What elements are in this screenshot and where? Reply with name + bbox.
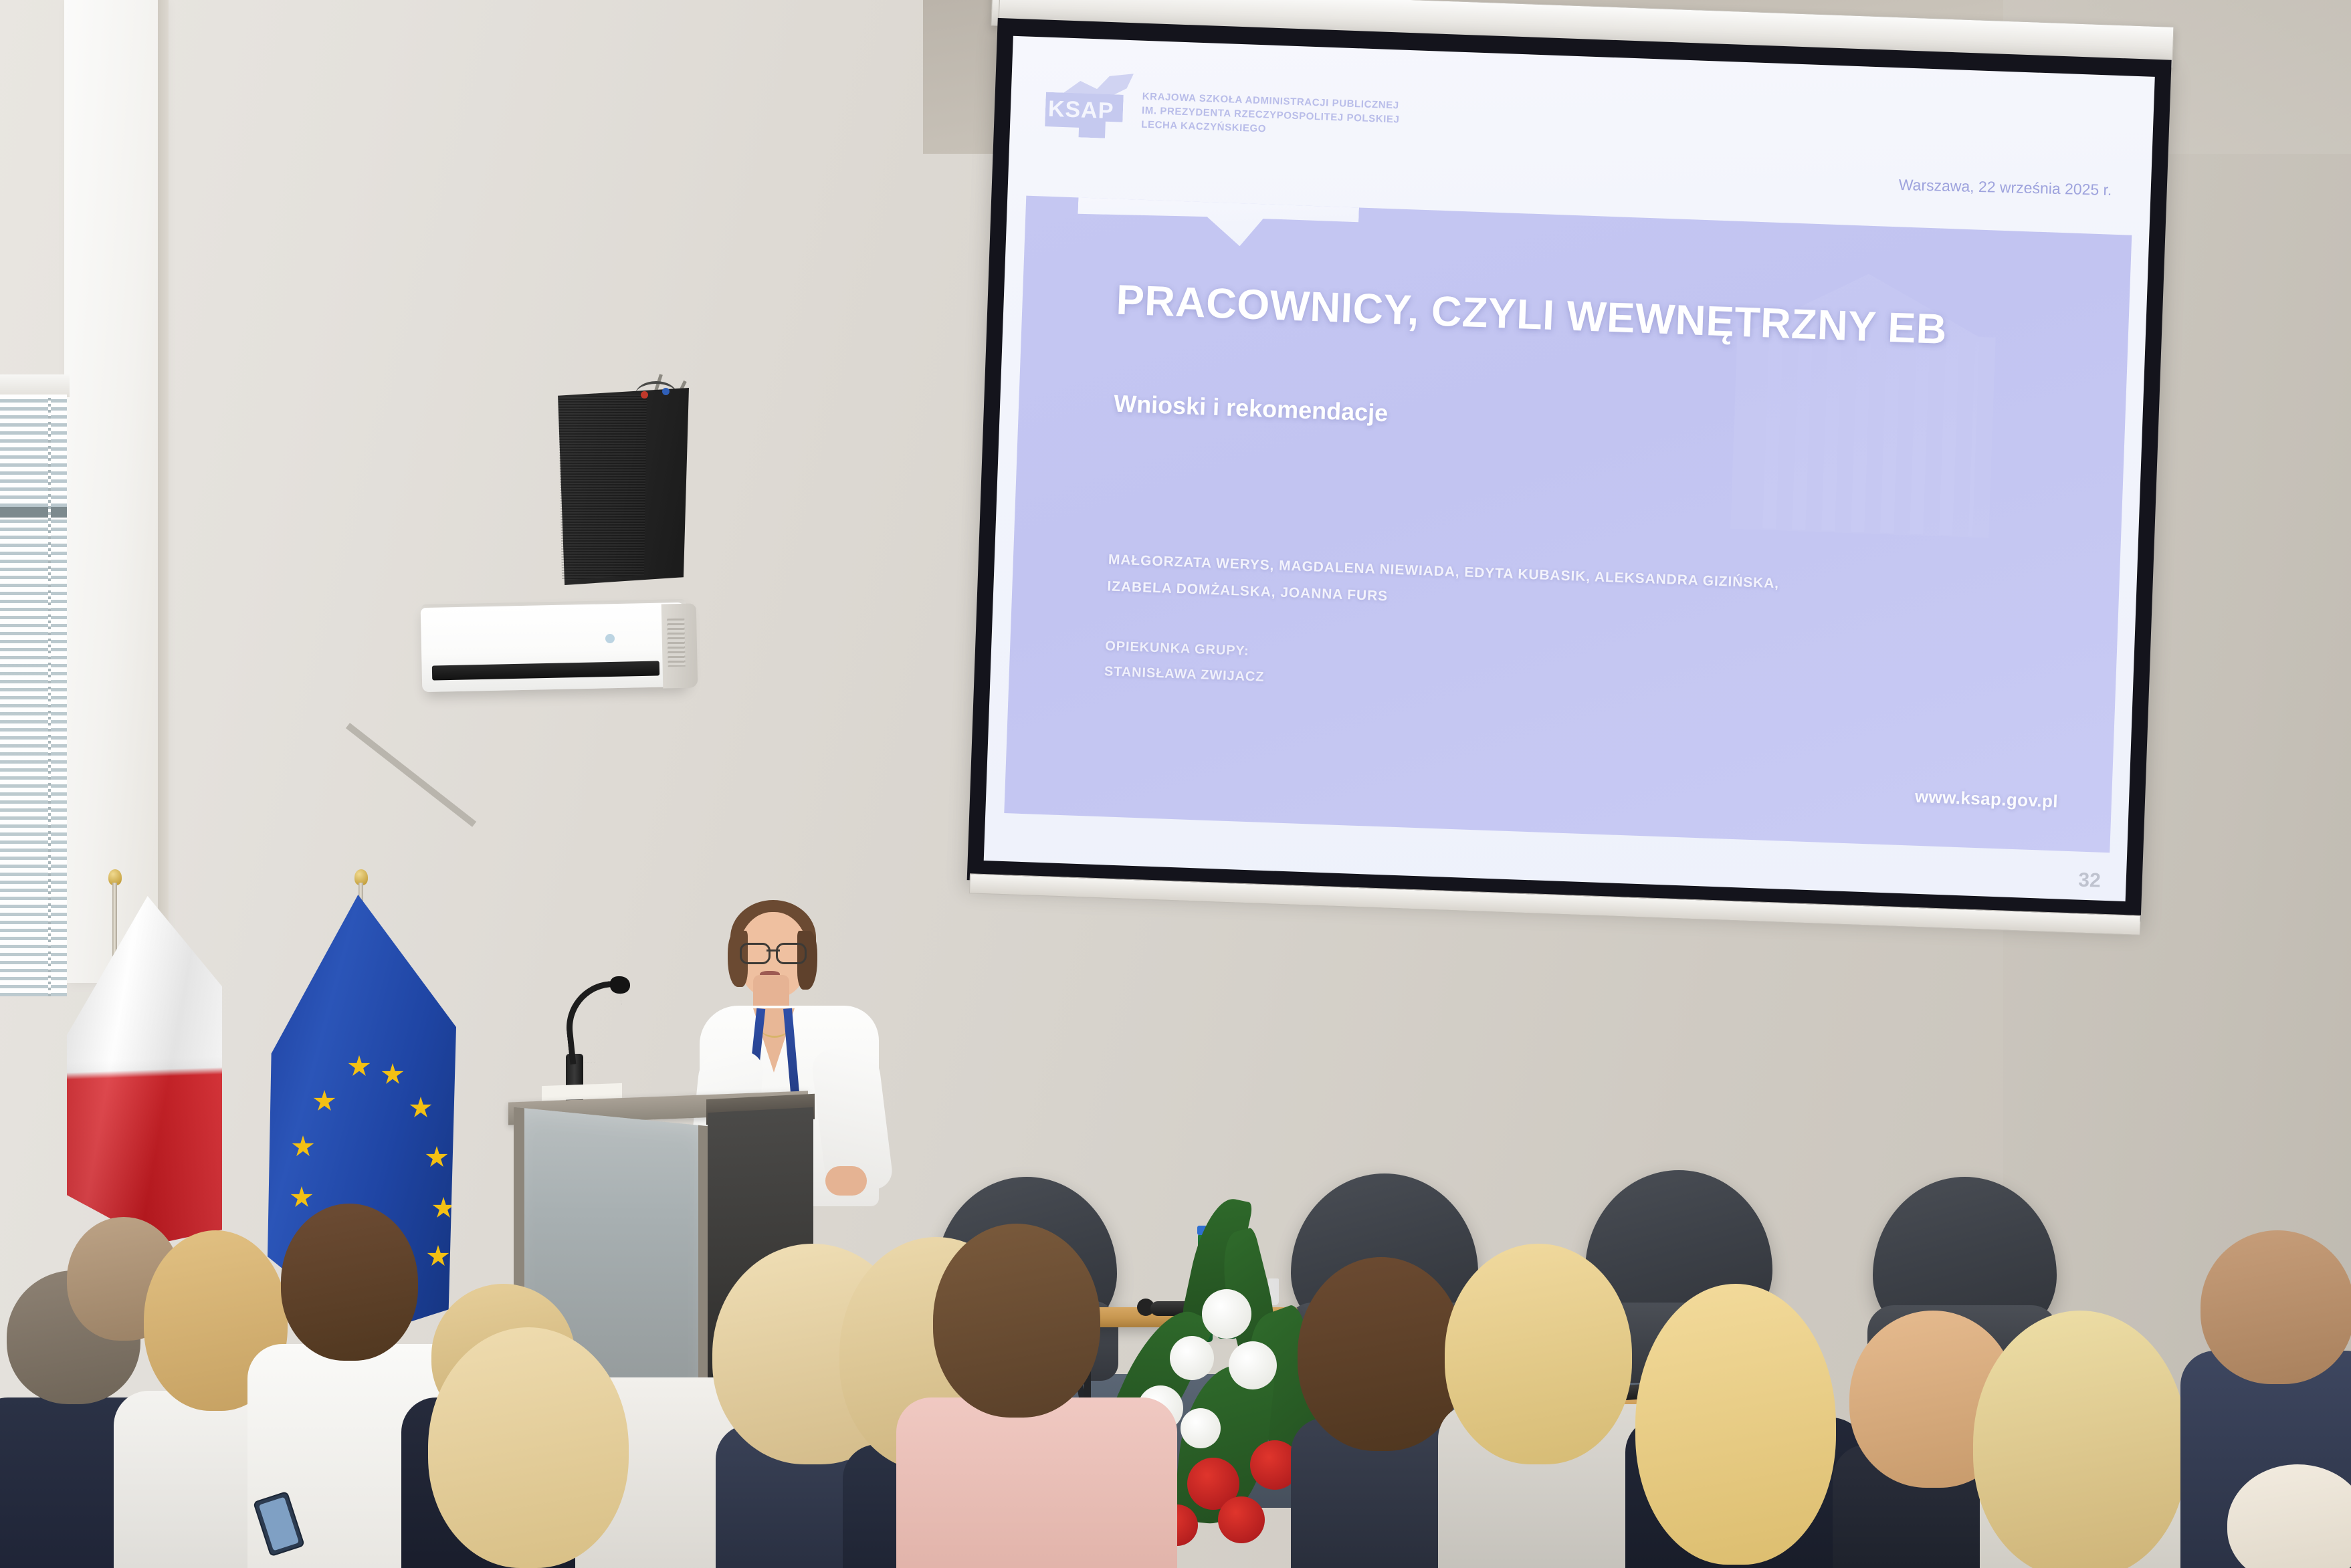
window: [0, 395, 67, 996]
audience-member-head: [1445, 1244, 1632, 1464]
audience-member-head: [1298, 1257, 1465, 1451]
speaker-grille: [556, 392, 647, 580]
eyeglasses-bridge: [766, 949, 780, 951]
audience-member-head: [2201, 1230, 2351, 1384]
red-carnation: [1218, 1496, 1265, 1543]
white-carnation: [1181, 1408, 1221, 1448]
window-frame: [0, 374, 70, 397]
slide-supervisor-name: STANISŁAWA ZWIJACZ: [1104, 659, 1265, 690]
ksap-logo: KSAP KRAJOWA SZKOŁA ADMINISTRACJI PUBLIC…: [1044, 70, 1401, 152]
wall-pillar: [64, 0, 162, 983]
screen-black-border: KSAP KRAJOWA SZKOŁA ADMINISTRACJI PUBLIC…: [967, 18, 2172, 922]
eu-star-icon: [290, 1186, 313, 1209]
eu-star-icon: [425, 1146, 448, 1169]
blind-cord[interactable]: [48, 395, 51, 996]
ksap-logo-mark-icon: KSAP: [1044, 70, 1132, 142]
presenter-hand-right: [825, 1166, 867, 1196]
blind-header-rail: [0, 507, 67, 518]
audience-member-head: [1973, 1311, 2187, 1568]
speaker-terminal-blue: [662, 388, 670, 395]
eyeglasses-icon: [738, 943, 808, 960]
projected-slide: KSAP KRAJOWA SZKOŁA ADMINISTRACJI PUBLIC…: [984, 36, 2155, 901]
microphone-capsule-icon: [610, 976, 630, 994]
slide-supervisor: OPIEKUNKA GRUPY: STANISŁAWA ZWIJACZ: [1104, 633, 1265, 690]
pillar-edge: [158, 0, 169, 983]
ksap-logo-lines: KRAJOWA SZKOŁA ADMINISTRACJI PUBLICZNEJ …: [1141, 85, 1401, 139]
slide-date: Warszawa, 22 września 2025 r.: [1899, 176, 2112, 199]
conference-photo-scene: KSAP KRAJOWA SZKOŁA ADMINISTRACJI PUBLIC…: [0, 0, 2351, 1568]
building-columns: [1746, 334, 1979, 536]
eu-star-icon: [313, 1090, 336, 1113]
white-carnation: [1170, 1336, 1214, 1380]
slide-content-panel: PRACOWNICY, CZYLI WEWNĘTRZNY EB Wnioski …: [1004, 196, 2132, 853]
white-carnation: [1202, 1289, 1251, 1339]
audience-member-head: [281, 1204, 418, 1361]
panel-notch-decoration: [1077, 196, 1359, 250]
slide-page-number: 32: [2078, 869, 2102, 893]
white-carnation: [1229, 1341, 1277, 1389]
ksap-logo-text: KSAP: [1047, 98, 1123, 123]
eu-star-icon: [427, 1245, 449, 1268]
slide-subtitle: Wnioski i rekomendacje: [1114, 390, 1389, 428]
audience-member-head: [933, 1224, 1100, 1418]
ac-side-grille: [667, 619, 686, 667]
eu-star-icon: [409, 1097, 432, 1119]
ac-indicator-light: [605, 634, 615, 643]
audience-member-body: [896, 1397, 1177, 1568]
eu-star-icon: [381, 1063, 404, 1086]
slide-website-url: www.ksap.gov.pl: [1914, 786, 2058, 812]
projection-screen-assembly: KSAP KRAJOWA SZKOŁA ADMINISTRACJI PUBLIC…: [959, 0, 2182, 962]
audience-member-head: [1635, 1284, 1836, 1565]
slide-authors: MAŁGORZATA WERYS, MAGDALENA NIEWIADA, ED…: [1107, 546, 2059, 634]
eu-star-icon: [292, 1135, 314, 1158]
eu-star-icon: [348, 1055, 371, 1078]
speaker-terminal-red: [641, 391, 648, 399]
venetian-blinds[interactable]: [0, 395, 67, 996]
audience-member-head: [428, 1327, 629, 1568]
